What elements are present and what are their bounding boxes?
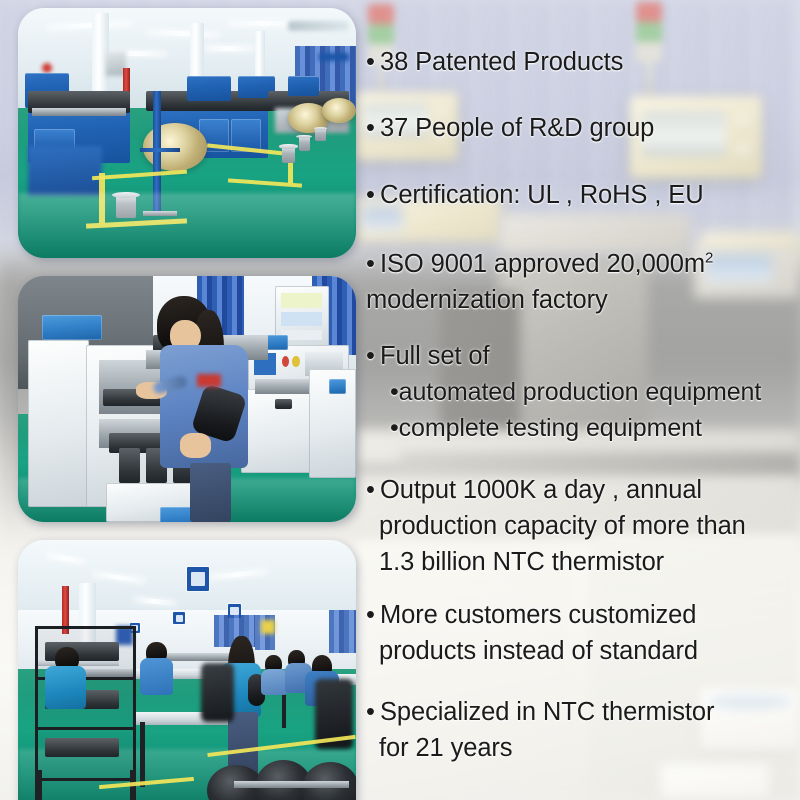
bullet-list: •38 Patented Products •37 People of R&D … <box>366 0 800 800</box>
bullet-marker: • <box>366 338 380 374</box>
sub-bullet-line: •complete testing equipment <box>366 410 800 446</box>
photo-assembly-workshop <box>18 540 356 800</box>
bullet-wrap-line: products instead of standard <box>366 633 800 669</box>
bullet-text: 1.3 billion NTC thermistor <box>379 548 664 576</box>
bullet-line: •38 Patented Products <box>366 44 800 80</box>
bullet-line: •Output 1000K a day , annual <box>366 472 800 508</box>
slide-canvas: •38 Patented Products •37 People of R&D … <box>0 0 800 800</box>
safety-sign-main <box>187 567 209 591</box>
superscript-square: 2 <box>705 250 713 267</box>
bullet-line: •37 People of R&D group <box>366 110 800 146</box>
bullet-line: •Certification: UL , RoHS , EU <box>366 177 800 213</box>
bullet-text: complete testing equipment <box>399 414 702 442</box>
bullet-specialized: •Specialized in NTC thermistor for 21 ye… <box>366 694 800 766</box>
bullet-marker: • <box>366 597 380 633</box>
bullet-marker: • <box>366 694 380 730</box>
bullet-certification: •Certification: UL , RoHS , EU <box>366 177 800 213</box>
bullet-text: automated production equipment <box>399 378 762 406</box>
bullet-text: ISO 9001 approved 20,000m <box>380 250 705 278</box>
bullet-text: Full set of <box>380 342 489 370</box>
bullet-text: Specialized in NTC thermistor <box>380 698 714 726</box>
safety-sign-3 <box>173 612 184 624</box>
bullet-wrap-line: 1.3 billion NTC thermistor <box>366 544 800 580</box>
bullet-rd-group: •37 People of R&D group <box>366 110 800 146</box>
bullet-marker: • <box>366 472 380 508</box>
bullet-marker: • <box>390 410 399 446</box>
bullet-wrap-line: production capacity of more than <box>366 508 800 544</box>
photo-production-line <box>18 8 356 258</box>
bullet-marker: • <box>366 44 380 80</box>
bullet-text: modernization factory <box>366 286 608 314</box>
bullet-text: Output 1000K a day , annual <box>380 476 702 504</box>
bullet-text: for 21 years <box>379 734 512 762</box>
bullet-text: More customers customized <box>380 601 696 629</box>
bullet-line: •Specialized in NTC thermistor <box>366 694 800 730</box>
bullet-marker: • <box>390 374 399 410</box>
bullet-output: •Output 1000K a day , annual production … <box>366 472 800 580</box>
bullet-iso-factory: •ISO 9001 approved 20,000m2 modernizatio… <box>366 246 800 318</box>
bullet-patents: •38 Patented Products <box>366 44 800 80</box>
bullet-line: •More customers customized <box>366 597 800 633</box>
bullet-text: 38 Patented Products <box>380 48 623 76</box>
bullet-full-set: •Full set of •automated production equip… <box>366 338 800 446</box>
bullet-marker: • <box>366 110 380 146</box>
sub-bullet-line: •automated production equipment <box>366 374 800 410</box>
bullet-marker: • <box>366 246 380 282</box>
bullet-text: 37 People of R&D group <box>380 114 654 142</box>
photo-operator-machine <box>18 276 356 522</box>
bullet-customized: •More customers customized products inst… <box>366 597 800 669</box>
bullet-line: •ISO 9001 approved 20,000m2 <box>366 246 800 282</box>
bullet-text: production capacity of more than <box>379 512 746 540</box>
bullet-wrap-line: modernization factory <box>366 282 800 318</box>
bullet-marker: • <box>366 177 380 213</box>
bullet-wrap-line: for 21 years <box>366 730 800 766</box>
bullet-text: products instead of standard <box>379 637 698 665</box>
bullet-line: •Full set of <box>366 338 800 374</box>
bullet-text: Certification: UL , RoHS , EU <box>380 181 704 209</box>
